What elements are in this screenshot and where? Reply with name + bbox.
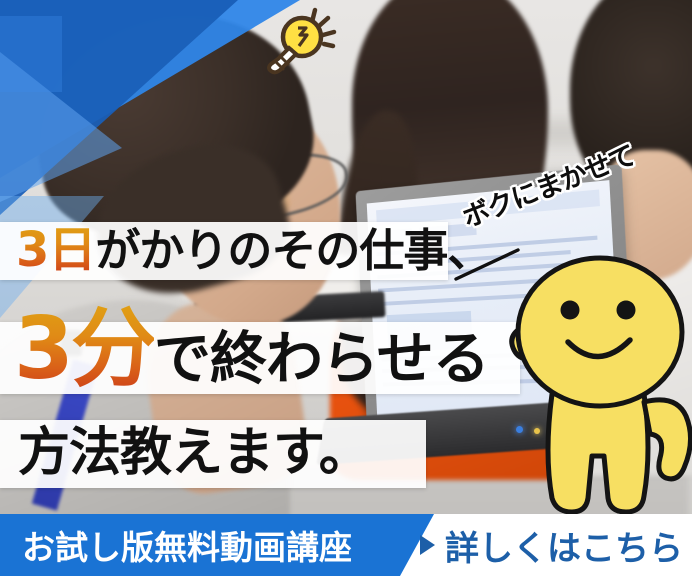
headline-line-1-rest: がかりのその仕事、: [95, 224, 491, 277]
cta-details-link[interactable]: 詳しくはこちら: [412, 514, 692, 576]
headline-highlight-3min: 3分: [14, 299, 154, 399]
cta-left-label-block[interactable]: お試し版無料動画講座: [0, 514, 434, 576]
headline-line-2: 3分で終わらせる: [14, 306, 489, 405]
headline-line-3: 方法教えます。: [18, 419, 370, 487]
play-triangle-icon: [420, 535, 435, 555]
headline-line-2-rest: で終わらせる: [154, 326, 489, 392]
mascot-eye-right: [617, 301, 636, 320]
promo-banner: 3日がかりのその仕事、 3分で終わらせる 方法教えます。 ボクにまかせて お試し…: [0, 0, 692, 576]
cta-bar[interactable]: お試し版無料動画講座 詳しくはこちら: [0, 514, 692, 576]
cta-left-label: お試し版無料動画講座: [22, 521, 352, 569]
corner-triangle-accent: [0, 16, 62, 92]
yellow-mascot-character: [508, 244, 692, 516]
headline-line-1: 3日がかりのその仕事、: [16, 221, 491, 280]
cta-right-label: 詳しくはこちら: [445, 521, 683, 570]
headline-highlight-3days: 3日: [16, 222, 95, 278]
mascot-eye-left: [561, 301, 580, 320]
light-bulb-icon: [258, 4, 340, 78]
